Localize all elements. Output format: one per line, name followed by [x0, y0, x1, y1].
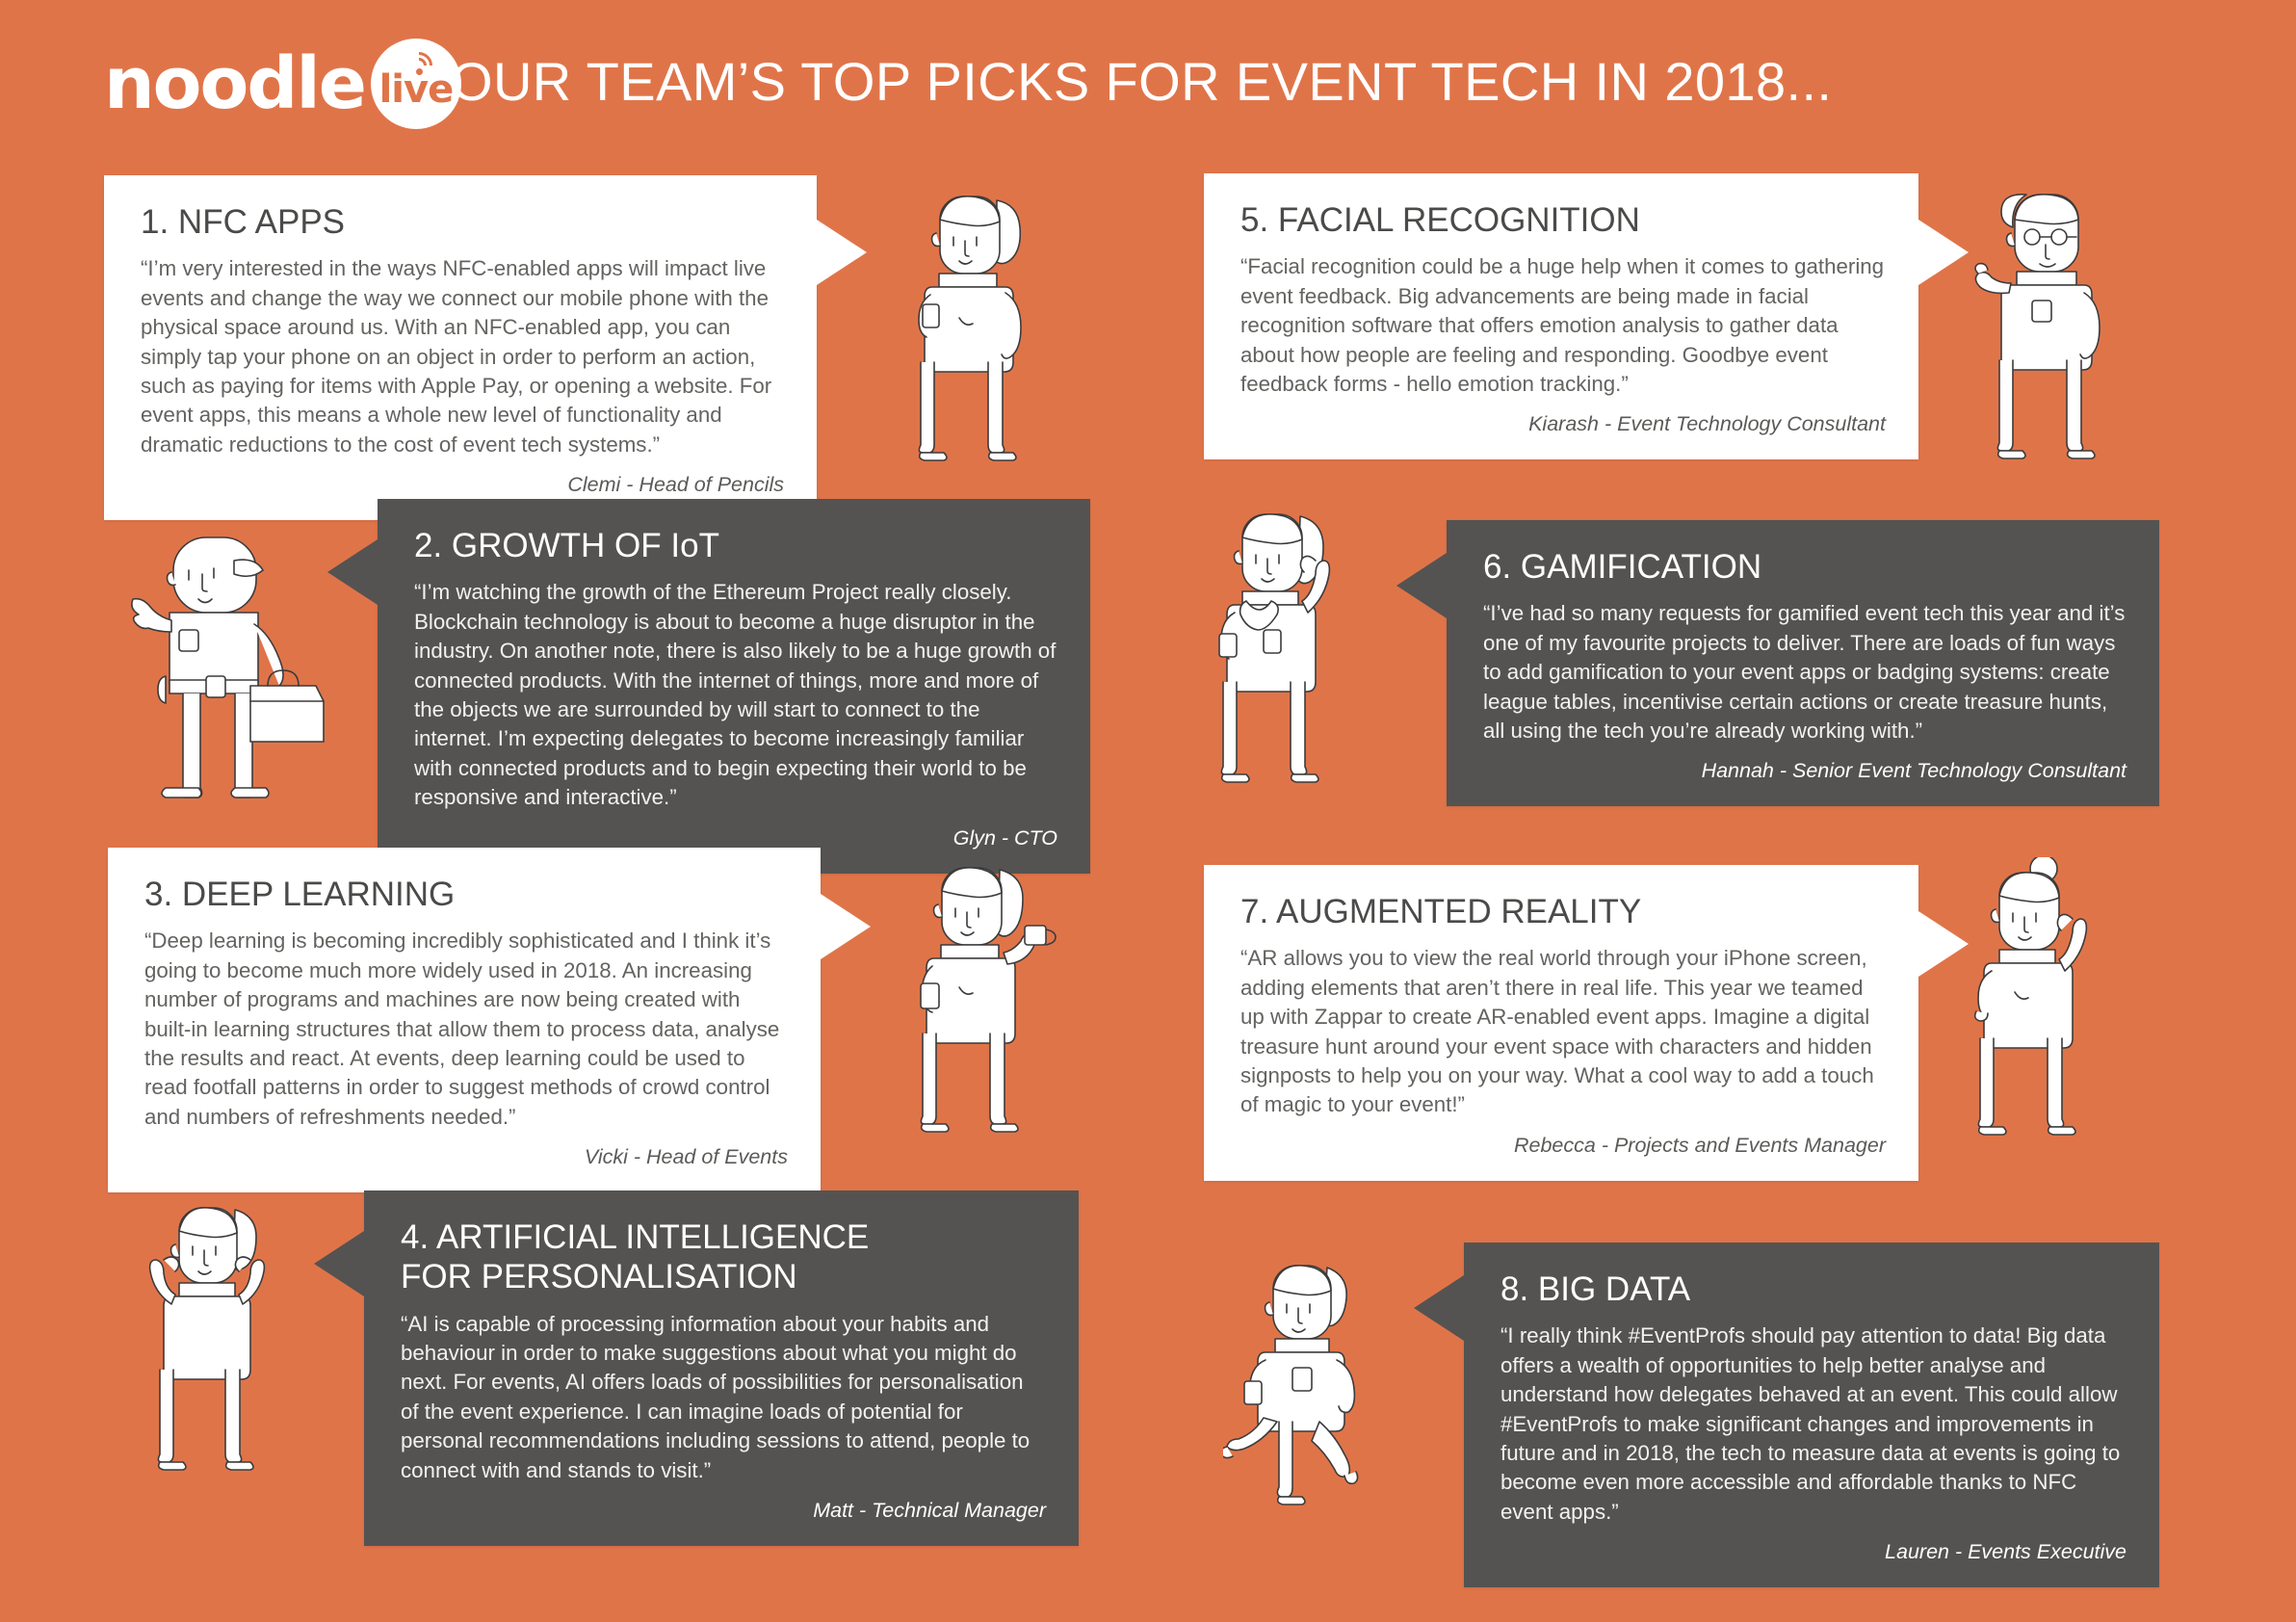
card-body: “Deep learning is becoming incredibly so…	[144, 927, 788, 1132]
card-gamification[interactable]: 6. GAMIFICATION “I’ve had so many reques…	[1447, 520, 2159, 806]
speech-tail-ai-personalisation	[314, 1231, 364, 1296]
card-title: 5. FACIAL RECOGNITION	[1240, 200, 1886, 240]
speech-tail-big-data	[1414, 1275, 1464, 1341]
character-woman-running-with-phone	[1223, 1262, 1416, 1522]
card-title: 7. AUGMENTED REALITY	[1240, 892, 1886, 931]
card-title: 2. GROWTH OF IoT	[414, 526, 1057, 565]
noodle-live-logo[interactable]: noodle live	[104, 39, 461, 129]
header: noodle live OUR TEAM’S TOP PICKS FOR EVE…	[0, 0, 2296, 144]
speech-tail-deep-learning	[821, 894, 871, 959]
character-woman-ponytail-holding-phone	[905, 191, 1059, 470]
card-nfc-apps[interactable]: 1. NFC APPS “I’m very interested in the …	[104, 175, 817, 520]
card-attribution: Vicki - Head of Events	[144, 1145, 788, 1169]
card-title: 6. GAMIFICATION	[1483, 547, 2126, 587]
card-body: “I’m very interested in the ways NFC-ena…	[141, 254, 784, 459]
card-title: 8. BIG DATA	[1500, 1269, 2126, 1309]
character-woman-bun-waving	[1961, 857, 2134, 1146]
card-attribution: Clemi - Head of Pencils	[141, 473, 784, 497]
card-deep-learning[interactable]: 3. DEEP LEARNING “Deep learning is becom…	[108, 848, 821, 1192]
card-body: “AR allows you to view the real world th…	[1240, 944, 1886, 1120]
character-woman-waving-with-lanyard	[1206, 509, 1379, 798]
card-artificial-intelligence-for-personalisation[interactable]: 4. ARTIFICIAL INTELLIGENCE FOR PERSONALI…	[364, 1190, 1079, 1546]
logo-wordmark: noodle	[104, 48, 365, 119]
card-title: 4. ARTIFICIAL INTELLIGENCE FOR PERSONALI…	[401, 1217, 1046, 1297]
card-body: “I’m watching the growth of the Ethereum…	[414, 578, 1057, 812]
card-body: “I really think #EventProfs should pay a…	[1500, 1321, 2126, 1527]
card-body: “Facial recognition could be a huge help…	[1240, 252, 1886, 399]
character-man-with-glasses-pointing	[1970, 189, 2132, 468]
speech-tail-gamification	[1396, 553, 1447, 618]
card-big-data[interactable]: 8. BIG DATA “I really think #EventProfs …	[1464, 1243, 2159, 1587]
card-attribution: Hannah - Senior Event Technology Consult…	[1483, 759, 2126, 783]
card-body: “I’ve had so many requests for gamified …	[1483, 599, 2126, 746]
wifi-signal-icon-dot	[416, 68, 423, 75]
character-woman-holding-mug-and-phone	[907, 862, 1071, 1141]
character-man-with-briefcase-thumbs-up	[123, 528, 326, 817]
card-growth-of-iot[interactable]: 2. GROWTH OF IoT “I’m watching the growt…	[378, 499, 1090, 874]
card-attribution: Lauren - Events Executive	[1500, 1540, 2126, 1564]
logo-badge: live	[371, 39, 461, 129]
card-title: 3. DEEP LEARNING	[144, 875, 788, 914]
card-attribution: Kiarash - Event Technology Consultant	[1240, 412, 1886, 436]
speech-tail-growth-of-iot	[327, 539, 378, 605]
character-person-arms-raised	[143, 1204, 321, 1483]
card-body: “AI is capable of processing information…	[401, 1310, 1046, 1486]
card-augmented-reality[interactable]: 7. AUGMENTED REALITY “AR allows you to v…	[1204, 865, 1918, 1181]
page-title: OUR TEAM’S TOP PICKS FOR EVENT TECH IN 2…	[451, 50, 1832, 113]
card-title: 1. NFC APPS	[141, 202, 784, 242]
infographic-canvas: noodle live OUR TEAM’S TOP PICKS FOR EVE…	[0, 0, 2296, 1622]
card-attribution: Matt - Technical Manager	[401, 1499, 1046, 1523]
card-facial-recognition[interactable]: 5. FACIAL RECOGNITION “Facial recognitio…	[1204, 173, 1918, 459]
speech-tail-nfc-apps	[817, 220, 867, 285]
card-attribution: Glyn - CTO	[414, 826, 1057, 850]
card-attribution: Rebecca - Projects and Events Manager	[1240, 1134, 1886, 1158]
speech-tail-facial-recognition	[1918, 220, 1969, 285]
